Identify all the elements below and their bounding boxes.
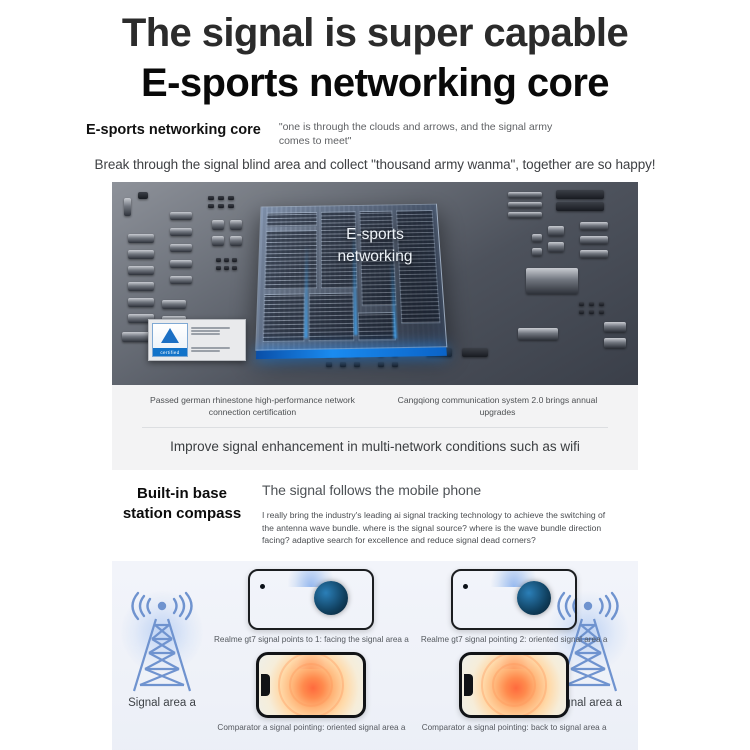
- promo-page: The signal is super capable E-sports net…: [0, 0, 750, 750]
- chip-panel-bigline: Improve signal enhancement in multi-netw…: [112, 428, 638, 458]
- comparison-cell: Comparator a signal pointing: back to si…: [422, 652, 607, 732]
- subhead-quote: "one is through the clouds and arrows, a…: [279, 120, 559, 148]
- compass-title: Built-in base station compass: [112, 482, 252, 524]
- comparison-cell: Realme gt7 signal points to 1: facing th…: [214, 569, 409, 644]
- comparison-panel: Signal area a: [112, 561, 638, 750]
- cell-caption: Comparator a signal pointing: oriented s…: [217, 723, 405, 732]
- camera-dot: [463, 584, 468, 589]
- signal-ring: [289, 663, 333, 707]
- chip-subcaptions: Passed german rhinestone high-performanc…: [112, 385, 638, 418]
- certification-badge: certified: [148, 319, 246, 361]
- comparison-cell: Realme gt7 signal pointing 2: oriented s…: [421, 569, 608, 644]
- signal-tower-left: Signal area a: [118, 589, 206, 709]
- phone-landscape-realme: [451, 569, 577, 630]
- triangle-icon: [161, 328, 179, 343]
- cell-caption: Comparator a signal pointing: back to si…: [422, 723, 607, 732]
- hero-headline: The signal is super capable E-sports net…: [0, 0, 750, 108]
- subhead-row: E-sports networking core "one is through…: [86, 108, 750, 148]
- comparison-grid: Realme gt7 signal points to 1: facing th…: [208, 569, 542, 745]
- phone-portrait-comparator: [256, 652, 366, 718]
- cell-caption: Realme gt7 signal points to 1: facing th…: [214, 635, 409, 644]
- chip-image: E-sports networking certified: [112, 182, 638, 385]
- comparison-column-right: Realme gt7 signal pointing 2: oriented s…: [415, 569, 614, 745]
- phone-portrait-comparator: [459, 652, 569, 718]
- cell-tower-icon: [118, 589, 206, 695]
- phone-notch: [464, 674, 473, 696]
- compass-body: The signal follows the mobile phone I re…: [252, 482, 638, 547]
- chip-caption-left: Passed german rhinestone high-performanc…: [130, 394, 375, 418]
- comparison-column-left: Realme gt7 signal points to 1: facing th…: [208, 569, 415, 745]
- camera-blob: [314, 581, 348, 615]
- tower-label-left: Signal area a: [118, 697, 206, 709]
- compass-lead: The signal follows the mobile phone: [262, 482, 638, 509]
- subhead-title: E-sports networking core: [86, 120, 261, 138]
- chip-panel: E-sports networking certified Passed ger…: [112, 182, 638, 470]
- hero-line-1: The signal is super capable: [0, 8, 750, 58]
- compass-paragraph: I really bring the industry's leading ai…: [262, 509, 607, 547]
- comparison-cell: Comparator a signal pointing: oriented s…: [217, 652, 405, 732]
- camera-blob: [517, 581, 551, 615]
- phone-notch: [261, 674, 270, 696]
- compass-title-line-1: Built-in base: [112, 484, 252, 504]
- camera-dot: [260, 584, 265, 589]
- cell-caption: Realme gt7 signal pointing 2: oriented s…: [421, 635, 608, 644]
- chip-die-illustration: [255, 204, 447, 351]
- compass-title-line-2: station compass: [112, 504, 252, 524]
- hero-line-2: E-sports networking core: [0, 58, 750, 108]
- certification-text-lines: [188, 323, 242, 357]
- certification-word: certified: [153, 348, 187, 356]
- compass-section: Built-in base station compass The signal…: [112, 470, 638, 547]
- phone-landscape-realme: [248, 569, 374, 630]
- chip-caption-right: Cangqiong communication system 2.0 bring…: [375, 394, 620, 418]
- signal-ring: [492, 663, 536, 707]
- tagline: Break through the signal blind area and …: [0, 157, 750, 172]
- certification-logo: certified: [152, 323, 188, 357]
